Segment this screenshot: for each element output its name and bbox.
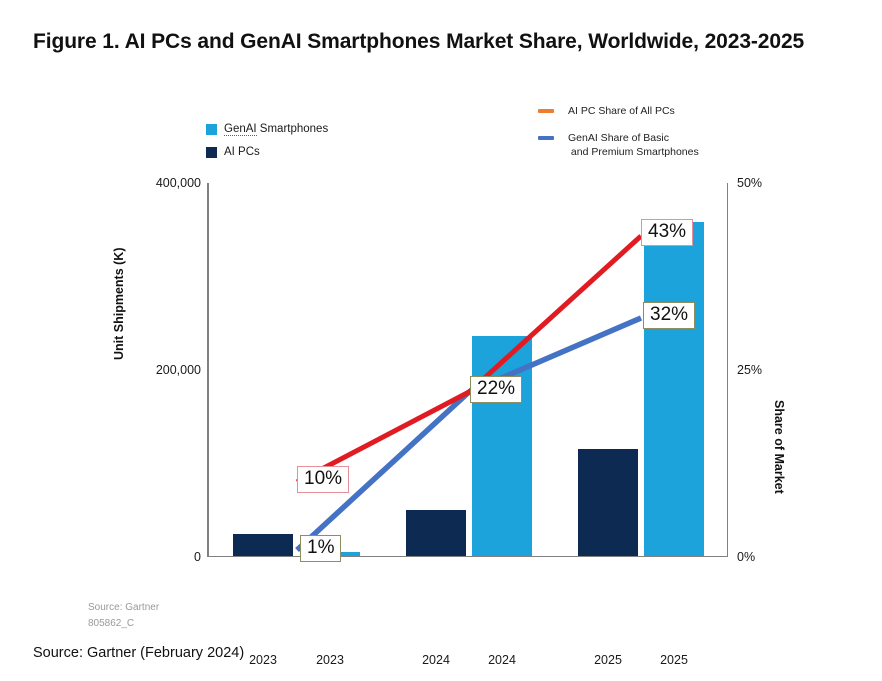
legend-item-label: GenAI Smartphones	[224, 122, 328, 136]
bar-genai-2025[interactable]	[644, 222, 704, 556]
x-tick-2023-genai: 2023	[316, 653, 344, 667]
y-tick-right-25: 25%	[737, 363, 762, 377]
chart-source-note: Source: Gartner 805862_C	[88, 600, 159, 632]
legend-item-genai-smartphones[interactable]: GenAI Smartphones	[206, 122, 436, 136]
y-tick-right-50: 50%	[737, 176, 762, 190]
legend-item-label: AI PC Share of All PCs	[568, 104, 675, 118]
x-tick-2024-ai: 2024	[422, 653, 450, 667]
page-title: Figure 1. AI PCs and GenAI Smartphones M…	[33, 28, 823, 56]
bar-ai-pcs-2025[interactable]	[578, 449, 638, 556]
bar-genai-2024[interactable]	[472, 336, 532, 556]
x-tick-2023-ai: 2023	[249, 653, 277, 667]
y-tick-left-400000: 400,000	[156, 176, 201, 190]
y-tick-right-0: 0%	[737, 550, 755, 564]
data-label-ai-pc-share-2023: 10%	[297, 466, 349, 493]
data-label-genai-share-2023: 1%	[300, 535, 341, 562]
x-tick-2025-ai: 2025	[594, 653, 622, 667]
y-axis-line-right	[727, 183, 729, 557]
y-axis-title-left: Unit Shipments (K)	[112, 248, 126, 361]
legend-item-label: AI PCs	[224, 145, 260, 159]
data-label-genai-share-2025: 32%	[643, 302, 695, 329]
data-label-share-2024: 22%	[470, 376, 522, 403]
x-tick-2025-genai: 2025	[660, 653, 688, 667]
dash-marker-icon	[538, 136, 554, 140]
bar-ai-pcs-2023[interactable]	[233, 534, 293, 556]
legend-item-genai-share[interactable]: GenAI Share of Basic and Premium Smartph…	[538, 131, 788, 159]
legend-item-label: GenAI Share of Basic and Premium Smartph…	[568, 131, 699, 159]
chart-source-id: 805862_C	[88, 616, 159, 632]
legend-lines: AI PC Share of All PCs GenAI Share of Ba…	[538, 104, 788, 173]
chart-source-line: Source: Gartner	[88, 600, 159, 616]
data-label-ai-pc-share-2025: 43%	[641, 219, 693, 246]
page-source-note: Source: Gartner (February 2024)	[33, 645, 244, 661]
bar-ai-pcs-2024[interactable]	[406, 510, 466, 556]
x-tick-2024-genai: 2024	[488, 653, 516, 667]
y-tick-left-0: 0	[194, 550, 201, 564]
legend-bars: GenAI Smartphones AI PCs	[206, 122, 436, 169]
square-swatch-icon	[206, 124, 217, 135]
y-axis-line-left	[207, 183, 209, 557]
x-axis-line	[207, 556, 728, 558]
figure-page: Figure 1. AI PCs and GenAI Smartphones M…	[0, 0, 882, 681]
y-axis-title-right: Share of Market	[772, 400, 786, 494]
y-tick-left-200000: 200,000	[156, 363, 201, 377]
chart-figure: GenAI Smartphones AI PCs AI PC Share of …	[0, 95, 882, 630]
legend-item-ai-pc-share[interactable]: AI PC Share of All PCs	[538, 104, 788, 118]
legend-item-ai-pcs[interactable]: AI PCs	[206, 145, 436, 159]
dash-marker-icon	[538, 109, 554, 113]
square-swatch-icon	[206, 147, 217, 158]
